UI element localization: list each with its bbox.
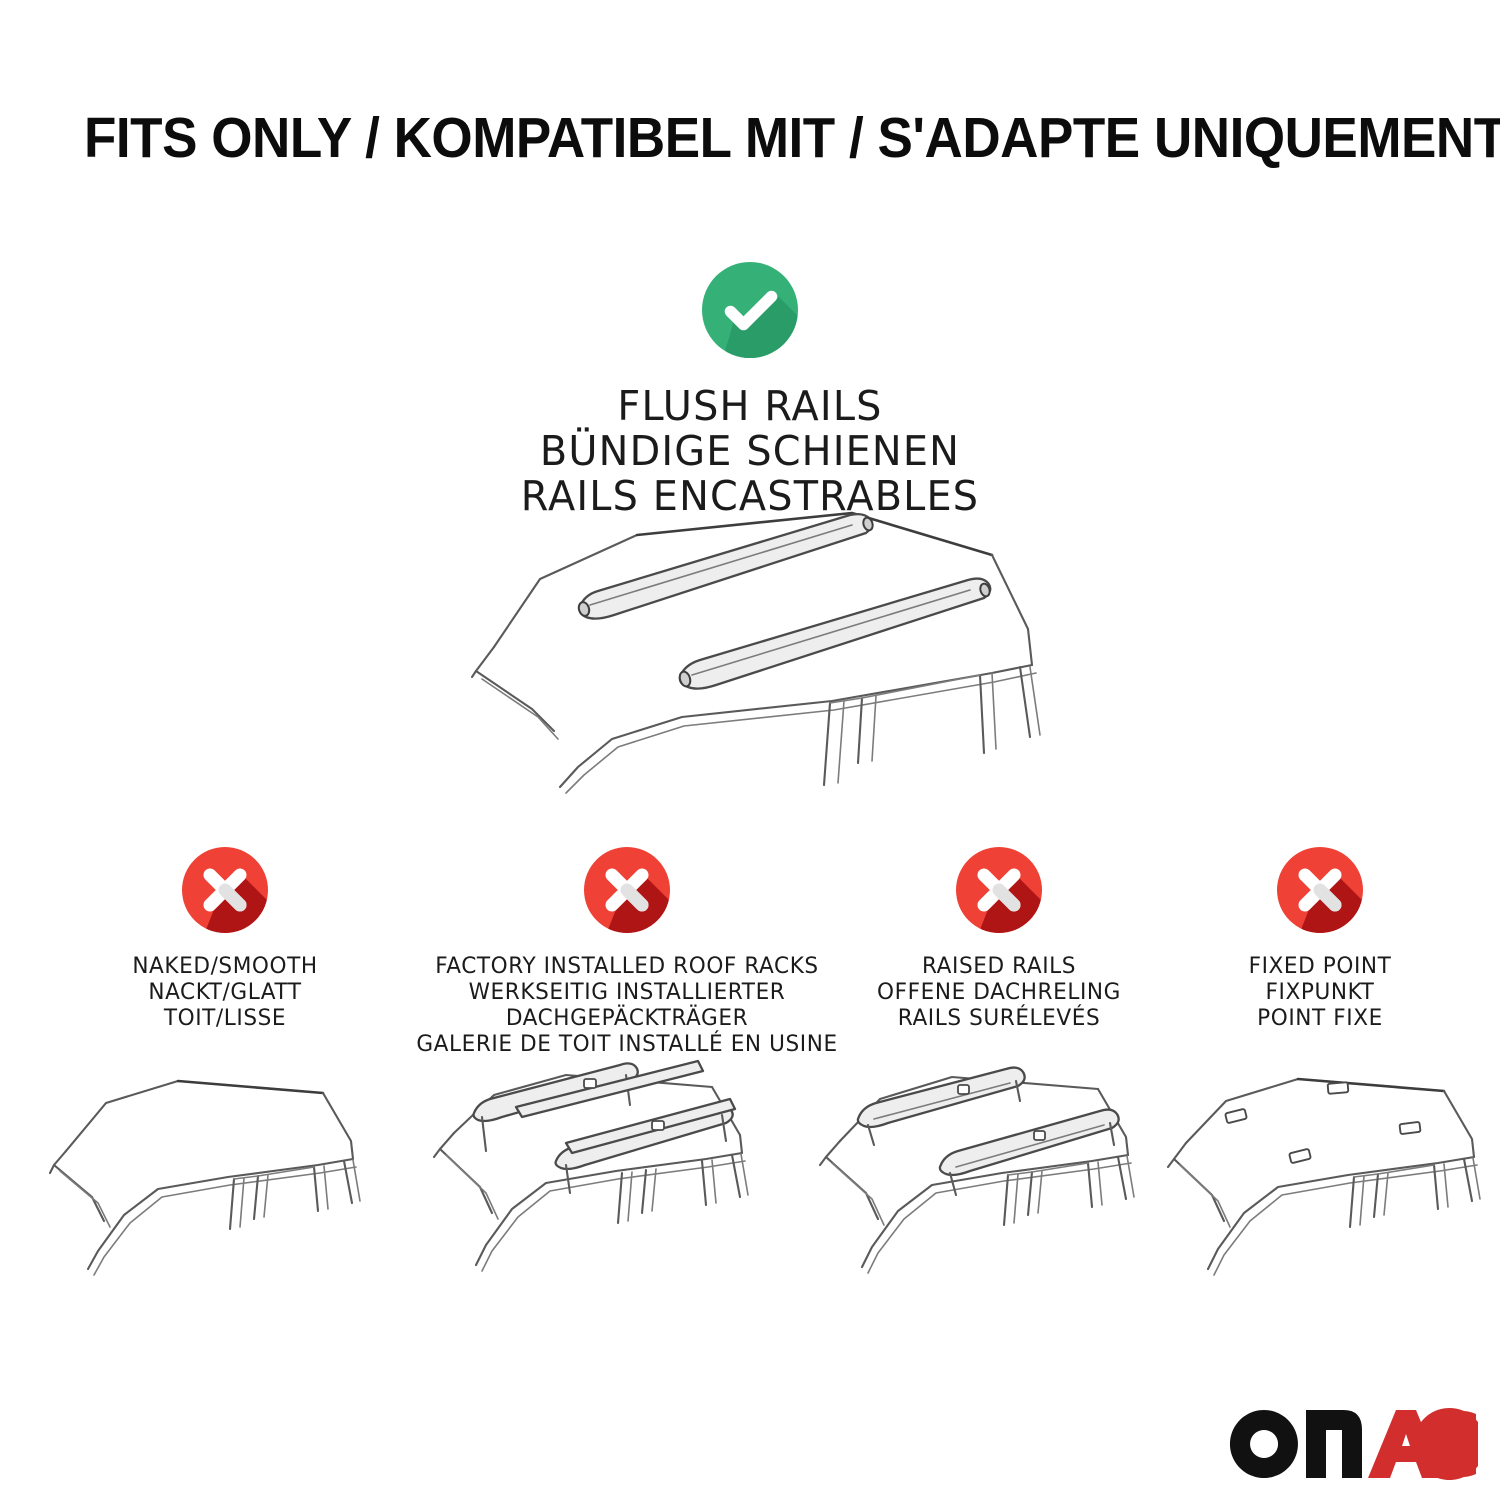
car-roof-with-flush-rails-illustration — [432, 495, 1082, 795]
x-circle-icon — [177, 842, 273, 938]
car-roof-factory-roof-racks-illustration — [430, 1055, 785, 1295]
compatible-section: FLUSH RAILS BÜNDIGE SCHIENEN RAILS ENCAS… — [0, 255, 1500, 519]
caption-line-en: NAKED/SMOOTH — [38, 953, 412, 979]
check-circle-icon — [695, 255, 805, 365]
caption-line-fr: POINT FIXE — [1166, 1005, 1473, 1031]
caption-line-de: OFFENE DACHRELING — [825, 979, 1173, 1005]
roof-type-illustrations — [0, 1055, 1500, 1295]
caption-line-fr: TOIT/LISSE — [38, 1005, 412, 1031]
incompatible-item-naked-smooth: NAKED/SMOOTH NACKT/GLATT TOIT/LISSE — [30, 842, 420, 1031]
incompatible-item-raised-rails: RAISED RAILS OFFENE DACHRELING RAILS SUR… — [818, 842, 1180, 1031]
omac-logo — [1228, 1408, 1478, 1480]
check-circle-badge — [695, 255, 805, 365]
caption-line-en: FIXED POINT — [1166, 953, 1473, 979]
caption-line-en: RAISED RAILS — [825, 953, 1173, 979]
compatible-line-en: FLUSH RAILS — [23, 384, 1478, 429]
infographic-canvas: FITS ONLY / KOMPATIBEL MIT / S'ADAPTE UN… — [0, 0, 1500, 1500]
x-circle-icon — [1272, 842, 1368, 938]
x-circle-badge — [579, 842, 675, 938]
logo-letter-m — [1306, 1410, 1362, 1478]
x-circle-icon — [951, 842, 1047, 938]
x-circle-icon — [579, 842, 675, 938]
incompatible-caption: FIXED POINT FIXPUNKT POINT FIXE — [1166, 953, 1473, 1031]
compatible-line-de: BÜNDIGE SCHIENEN — [23, 429, 1478, 474]
x-circle-badge — [177, 842, 273, 938]
incompatible-caption: RAISED RAILS OFFENE DACHRELING RAILS SUR… — [825, 953, 1173, 1031]
caption-line-de: FIXPUNKT — [1166, 979, 1473, 1005]
logo-letter-o — [1230, 1410, 1298, 1478]
car-roof-fixed-point-illustration — [1168, 1055, 1500, 1295]
caption-line-fr: GALERIE DE TOIT INSTALLÉ EN USINE — [407, 1031, 847, 1057]
caption-line-de-2: DACHGEPÄCKTRÄGER — [407, 1005, 847, 1031]
caption-line-en: FACTORY INSTALLED ROOF RACKS — [407, 953, 847, 979]
incompatible-section: NAKED/SMOOTH NACKT/GLATT TOIT/LISSE FACT… — [0, 842, 1500, 1062]
caption-line-de: NACKT/GLATT — [38, 979, 412, 1005]
incompatible-item-fixed-point: FIXED POINT FIXPUNKT POINT FIXE — [1160, 842, 1480, 1031]
x-circle-badge — [951, 842, 1047, 938]
incompatible-caption: NAKED/SMOOTH NACKT/GLATT TOIT/LISSE — [38, 953, 412, 1031]
caption-line-de-1: WERKSEITIG INSTALLIERTER — [407, 979, 847, 1005]
caption-line-fr: RAILS SURÉLEVÉS — [825, 1005, 1173, 1031]
incompatible-caption: FACTORY INSTALLED ROOF RACKS WERKSEITIG … — [407, 953, 847, 1057]
incompatible-item-factory-installed-roof-racks: FACTORY INSTALLED ROOF RACKS WERKSEITIG … — [398, 842, 856, 1057]
omac-logo-mark — [1228, 1408, 1478, 1480]
car-roof-raised-rails-illustration — [818, 1055, 1173, 1295]
car-roof-naked-smooth-illustration — [48, 1055, 403, 1295]
page-title: FITS ONLY / KOMPATIBEL MIT / S'ADAPTE UN… — [84, 106, 1330, 170]
x-circle-badge — [1272, 842, 1368, 938]
